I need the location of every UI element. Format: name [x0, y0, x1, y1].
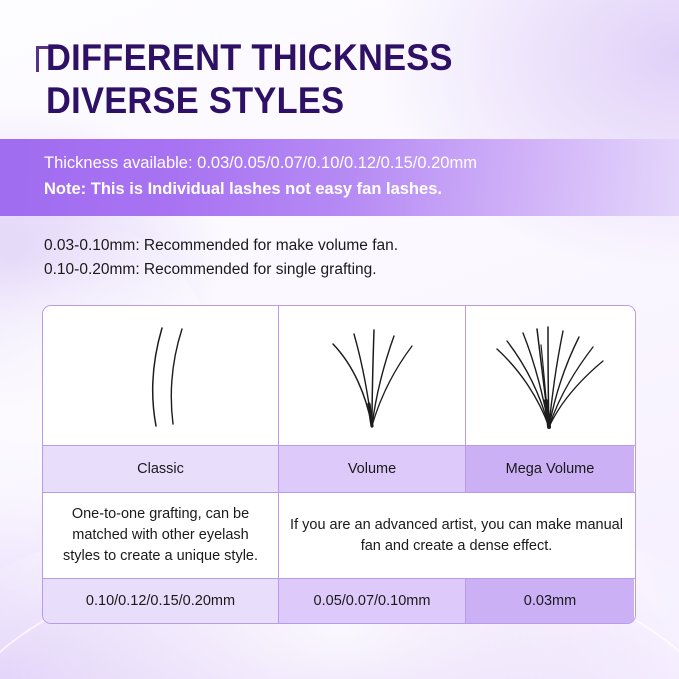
- table-cell-thickness-classic: 0.10/0.12/0.15/0.20mm: [43, 579, 279, 623]
- mega-volume-fan-icon: [491, 321, 609, 431]
- table-row-descriptions: One-to-one grafting, can be matched with…: [43, 493, 635, 579]
- classic-lash-icon: [116, 322, 206, 430]
- recommendation-list: 0.03-0.10mm: Recommended for make volume…: [44, 234, 644, 282]
- banner-note: Note: This is Individual lashes not easy…: [44, 176, 679, 202]
- table-cell-label-mega-volume: Mega Volume: [466, 446, 634, 492]
- lash-style-comparison-table: Classic Volume Mega Volume One-to-one gr…: [42, 305, 636, 624]
- table-cell-label-volume: Volume: [279, 446, 466, 492]
- table-row-thickness: 0.10/0.12/0.15/0.20mm 0.05/0.07/0.10mm 0…: [43, 579, 635, 623]
- recommendation-single-grafting: 0.10-0.20mm: Recommended for single graf…: [44, 258, 644, 282]
- table-cell-description-classic: One-to-one grafting, can be matched with…: [43, 493, 279, 578]
- table-cell-thickness-volume: 0.05/0.07/0.10mm: [279, 579, 466, 623]
- table-cell-volume-illustration: [279, 306, 466, 445]
- page-title: DIFFERENT THICKNESS DIVERSE STYLES: [46, 36, 646, 122]
- table-cell-thickness-mega-volume: 0.03mm: [466, 579, 634, 623]
- thickness-banner: Thickness available: 0.03/0.05/0.07/0.10…: [0, 139, 679, 216]
- banner-thickness-available: Thickness available: 0.03/0.05/0.07/0.10…: [44, 150, 679, 176]
- volume-fan-icon: [322, 322, 422, 430]
- product-infographic-page: DIFFERENT THICKNESS DIVERSE STYLES Thick…: [0, 0, 679, 679]
- table-cell-classic-illustration: [43, 306, 279, 445]
- page-title-line-2: DIVERSE STYLES: [46, 79, 604, 122]
- table-cell-label-classic: Classic: [43, 446, 279, 492]
- page-title-line-1: DIFFERENT THICKNESS: [46, 36, 604, 79]
- recommendation-volume-fan: 0.03-0.10mm: Recommended for make volume…: [44, 234, 644, 258]
- table-row-labels: Classic Volume Mega Volume: [43, 446, 635, 493]
- table-cell-description-volume-merged: If you are an advanced artist, you can m…: [279, 493, 634, 578]
- table-cell-mega-volume-illustration: [466, 306, 634, 445]
- table-row-illustrations: [43, 306, 635, 446]
